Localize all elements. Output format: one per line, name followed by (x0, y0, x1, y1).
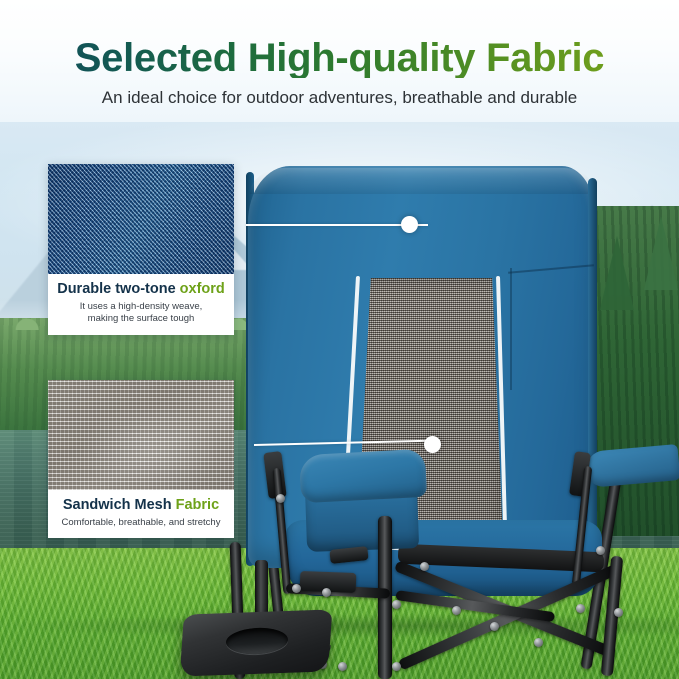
gray-sandwich-mesh-fabric-swatch (48, 380, 234, 490)
callout-card-mesh[interactable]: Sandwich Mesh Fabric Comfortable, breath… (48, 380, 234, 538)
chair-armrest-left (299, 449, 427, 504)
callout-title-accent: oxford (180, 281, 225, 297)
callout-card-mesh-title: Sandwich Mesh Fabric (54, 497, 228, 514)
chair-armrest-right (585, 444, 679, 488)
blue-two-tone-oxford-fabric-swatch (48, 164, 234, 274)
frame-rivet (534, 638, 543, 647)
callout-title-main: Sandwich Mesh (63, 497, 176, 513)
callout-card-oxford[interactable]: Durable two-tone oxford It uses a high-d… (48, 164, 234, 335)
callout-desc-line-1: It uses a high-density weave, (54, 301, 228, 314)
callout-card-oxford-title: Durable two-tone oxford (54, 281, 228, 298)
callout-desc-line-2: making the surface tough (54, 313, 228, 326)
callout-title-main: Durable two-tone (57, 281, 179, 297)
frame-rivet (392, 662, 401, 671)
chair-back-edge-right (588, 178, 597, 564)
callout-dot-mesh[interactable] (424, 436, 441, 453)
callout-card-mesh-description: Comfortable, breathable, and stretchy (54, 517, 228, 530)
callout-card-mesh-body: Sandwich Mesh Fabric Comfortable, breath… (48, 490, 234, 538)
frame-rivet (490, 622, 499, 631)
callout-card-oxford-body: Durable two-tone oxford It uses a high-d… (48, 274, 234, 335)
callout-card-oxford-description: It uses a high-density weave, making the… (54, 301, 228, 326)
frame-rivet (420, 562, 429, 571)
frame-rivet (338, 662, 347, 671)
frame-rivet (452, 606, 461, 615)
frame-rivet (614, 608, 623, 617)
callout-title-accent: Fabric (176, 497, 220, 513)
frame-rivet (576, 604, 585, 613)
frame-rivet (292, 584, 301, 593)
frame-rivet (596, 546, 605, 555)
page-title: Selected High-quality Fabric (0, 38, 679, 78)
callout-desc-line-1: Comfortable, breathable, and stretchy (54, 517, 228, 530)
callout-dot-oxford[interactable] (401, 216, 418, 233)
chair-back-top-seam (250, 168, 594, 194)
page-subtitle: An ideal choice for outdoor adventures, … (0, 88, 679, 108)
header-band: Selected High-quality Fabric An ideal ch… (0, 0, 679, 122)
frame-rivet (392, 600, 401, 609)
frame-rivet (276, 494, 285, 503)
product-infographic: Durable two-tone oxford It uses a high-d… (0, 0, 679, 679)
side-pocket-seam-vertical (510, 268, 512, 390)
frame-rivet (322, 588, 331, 597)
